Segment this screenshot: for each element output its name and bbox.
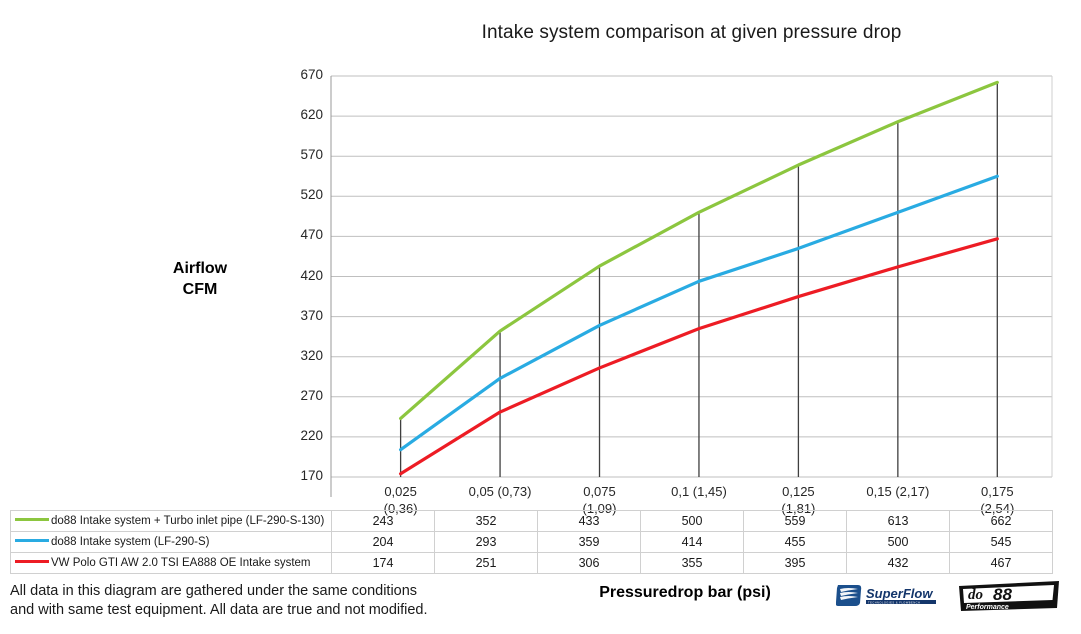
y-tick-label: 470: [283, 227, 323, 242]
table-cell-value: 467: [950, 553, 1053, 574]
x-tick-label-line1: 0,15 (2,17): [846, 483, 950, 500]
x-tick-label-line1: 0,075: [548, 483, 652, 500]
footnote-line-2: and with same test equipment. All data a…: [10, 601, 428, 620]
svg-text:TECHNOLOGIES & FLOWBENCH: TECHNOLOGIES & FLOWBENCH: [868, 600, 920, 604]
table-cell-value: 500: [641, 511, 744, 532]
svg-text:SuperFlow: SuperFlow: [866, 586, 933, 601]
table-row: do88 Intake system (LF-290-S)20429335941…: [11, 532, 1053, 553]
svg-text:Performance: Performance: [966, 604, 1009, 611]
table-cell-value: 243: [332, 511, 435, 532]
legend-data-table: do88 Intake system + Turbo inlet pipe (L…: [10, 510, 1053, 574]
table-cell-value: 433: [538, 511, 641, 532]
y-tick-label: 170: [283, 468, 323, 483]
svg-text:do: do: [968, 587, 983, 603]
y-tick-label: 420: [283, 268, 323, 283]
y-tick-label: 320: [283, 348, 323, 363]
chart-page: Intake system comparison at given pressu…: [0, 0, 1081, 634]
table-row: VW Polo GTI AW 2.0 TSI EA888 OE Intake s…: [11, 553, 1053, 574]
legend-label: do88 Intake system + Turbo inlet pipe (L…: [51, 515, 324, 527]
table-cell-value: 204: [332, 532, 435, 553]
table-cell-value: 559: [744, 511, 847, 532]
table-cell-value: 355: [641, 553, 744, 574]
y-tick-label: 370: [283, 308, 323, 323]
footnote: All data in this diagram are gathered un…: [10, 582, 428, 620]
table-cell-value: 395: [744, 553, 847, 574]
legend-cell: do88 Intake system + Turbo inlet pipe (L…: [11, 511, 332, 532]
svg-text:88: 88: [993, 585, 1012, 604]
x-tick-label: 0,1 (1,45): [647, 483, 751, 500]
superflow-logo: SuperFlow TECHNOLOGIES & FLOWBENCH: [836, 582, 946, 608]
table-cell-value: 174: [332, 553, 435, 574]
y-tick-label: 520: [283, 187, 323, 202]
table-cell-value: 251: [435, 553, 538, 574]
table-cell-value: 500: [847, 532, 950, 553]
legend-cell: do88 Intake system (LF-290-S): [11, 532, 332, 553]
table-row: do88 Intake system + Turbo inlet pipe (L…: [11, 511, 1053, 532]
legend-cell: VW Polo GTI AW 2.0 TSI EA888 OE Intake s…: [11, 553, 332, 574]
table-cell-value: 545: [950, 532, 1053, 553]
footnote-line-1: All data in this diagram are gathered un…: [10, 582, 428, 601]
table-cell-value: 306: [538, 553, 641, 574]
legend-swatch-icon: [15, 539, 49, 542]
do88-logo: do 88 Performance: [958, 580, 1060, 612]
legend-swatch-icon: [15, 560, 49, 563]
gridlines: [331, 76, 1052, 477]
table-cell-value: 455: [744, 532, 847, 553]
y-tick-label: 270: [283, 388, 323, 403]
table-cell-value: 293: [435, 532, 538, 553]
y-tick-label: 620: [283, 107, 323, 122]
x-tick-label: 0,15 (2,17): [846, 483, 950, 500]
x-tick-label-line1: 0,175: [945, 483, 1049, 500]
legend-label: do88 Intake system (LF-290-S): [51, 536, 210, 548]
x-tick-label-line1: 0,125: [746, 483, 850, 500]
table-cell-value: 613: [847, 511, 950, 532]
y-tick-label: 670: [283, 67, 323, 82]
table-cell-value: 662: [950, 511, 1053, 532]
x-tick-label: 0,05 (0,73): [448, 483, 552, 500]
table-cell-value: 352: [435, 511, 538, 532]
x-tick-label-line1: 0,025: [349, 483, 453, 500]
x-tick-label-line1: 0,05 (0,73): [448, 483, 552, 500]
plot-frame: [331, 76, 1052, 497]
table-cell-value: 432: [847, 553, 950, 574]
table-cell-value: 359: [538, 532, 641, 553]
table-cell-value: 414: [641, 532, 744, 553]
x-tick-label-line1: 0,1 (1,45): [647, 483, 751, 500]
y-tick-label: 220: [283, 428, 323, 443]
y-tick-label: 570: [283, 147, 323, 162]
legend-swatch-icon: [15, 518, 49, 521]
legend-label: VW Polo GTI AW 2.0 TSI EA888 OE Intake s…: [51, 557, 311, 569]
